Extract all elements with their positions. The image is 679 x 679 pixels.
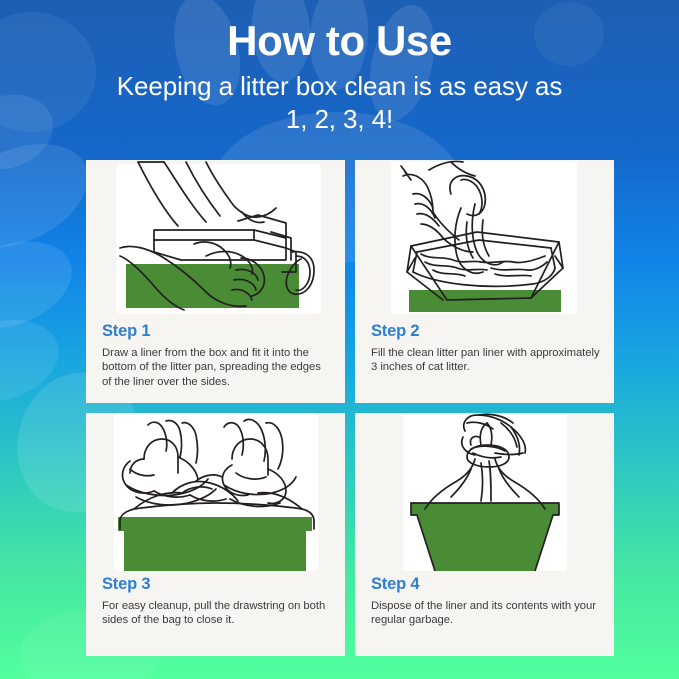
step-2-body: Step 2 Fill the clean litter pan liner w… [355, 318, 614, 375]
step-2-illustration [355, 160, 614, 318]
step-4-description: Dispose of the liner and its contents wi… [371, 599, 600, 628]
step-4-illustration [355, 413, 614, 571]
header: How to Use Keeping a litter box clean is… [0, 0, 679, 136]
page-subtitle: Keeping a litter box clean is as easy as… [0, 70, 679, 136]
step-3-title: Step 3 [102, 575, 331, 594]
step-1-illustration [86, 160, 345, 318]
step-3-body: Step 3 For easy cleanup, pull the drawst… [86, 571, 345, 628]
step-3-illustration [86, 413, 345, 571]
steps-grid: Step 1 Draw a liner from the box and fit… [86, 160, 614, 646]
two-hands-pulling-drawstring-closed-icon [86, 413, 345, 571]
step-1-title: Step 1 [102, 322, 331, 341]
step-2-title: Step 2 [371, 322, 600, 341]
page-title: How to Use [0, 17, 679, 65]
step-card-1: Step 1 Draw a liner from the box and fit… [86, 160, 345, 403]
step-4-title: Step 4 [371, 575, 600, 594]
infographic-page: How to Use Keeping a litter box clean is… [0, 0, 679, 679]
paw-toe-icon [0, 307, 68, 415]
page-subtitle-line-1: Keeping a litter box clean is as easy as [0, 70, 679, 103]
step-1-description: Draw a liner from the box and fit it int… [102, 346, 331, 389]
page-subtitle-line-2: 1, 2, 3, 4! [0, 103, 679, 136]
paw-toe-icon [0, 226, 84, 345]
hand-lifting-tied-bag-out-of-pan-icon [355, 413, 614, 571]
hand-pouring-litter-into-lined-pan-icon [355, 160, 614, 318]
step-1-body: Step 1 Draw a liner from the box and fit… [86, 318, 345, 389]
step-card-2: Step 2 Fill the clean litter pan liner w… [355, 160, 614, 403]
step-3-description: For easy cleanup, pull the drawstring on… [102, 599, 331, 628]
step-card-3: Step 3 For easy cleanup, pull the drawst… [86, 413, 345, 656]
step-4-body: Step 4 Dispose of the liner and its cont… [355, 571, 614, 628]
hands-pulling-liner-from-box-icon [86, 160, 345, 318]
step-2-description: Fill the clean litter pan liner with app… [371, 346, 600, 375]
step-card-4: Step 4 Dispose of the liner and its cont… [355, 413, 614, 656]
